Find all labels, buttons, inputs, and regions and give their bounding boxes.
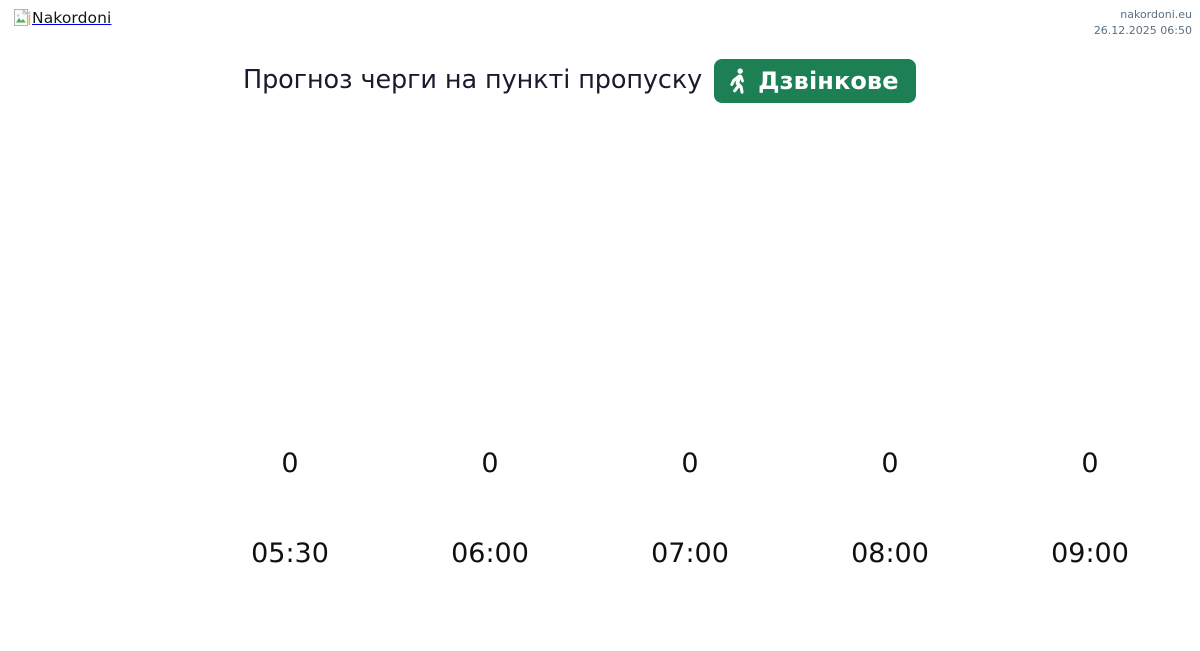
column-value-label: 0 <box>481 450 498 477</box>
column-value-label: 0 <box>681 450 698 477</box>
chart-column[interactable]: 009:00 <box>990 120 1190 600</box>
checkpoint-name-label: Дзвінкове <box>758 69 898 93</box>
checkpoint-badge[interactable]: Дзвінкове <box>714 59 915 103</box>
title-row: Прогноз черги на пункті пропуску Дзвінко… <box>243 57 916 105</box>
header-bar: Nakordoni nakordoni.eu 26.12.2025 06:50 <box>0 0 1200 46</box>
site-domain-text: nakordoni.eu <box>1094 7 1192 23</box>
column-value-label: 0 <box>281 450 298 477</box>
column-value-label: 0 <box>1081 450 1098 477</box>
chart-column[interactable]: 006:00 <box>390 120 590 600</box>
column-time-label: 08:00 <box>851 540 929 567</box>
column-time-label: 09:00 <box>1051 540 1129 567</box>
column-time-label: 06:00 <box>451 540 529 567</box>
brand-alt-text: Nakordoni <box>32 11 111 27</box>
forecast-timestamp: 26.12.2025 06:50 <box>1094 23 1192 39</box>
page-title: Прогноз черги на пункті пропуску <box>243 68 702 94</box>
chart-columns: 005:30006:00007:00008:00009:00 <box>190 120 1190 600</box>
chart-column[interactable]: 008:00 <box>790 120 990 600</box>
column-time-label: 07:00 <box>651 540 729 567</box>
chart-column[interactable]: 007:00 <box>590 120 790 600</box>
broken-image-icon <box>14 9 31 28</box>
site-meta: nakordoni.eu 26.12.2025 06:50 <box>1094 7 1192 39</box>
brand-logo-link[interactable]: Nakordoni <box>14 9 111 28</box>
queue-forecast-chart: 005:30006:00007:00008:00009:00 <box>190 120 1190 600</box>
column-value-label: 0 <box>881 450 898 477</box>
pedestrian-walking-icon <box>728 68 749 94</box>
chart-column[interactable]: 005:30 <box>190 120 390 600</box>
column-time-label: 05:30 <box>251 540 329 567</box>
